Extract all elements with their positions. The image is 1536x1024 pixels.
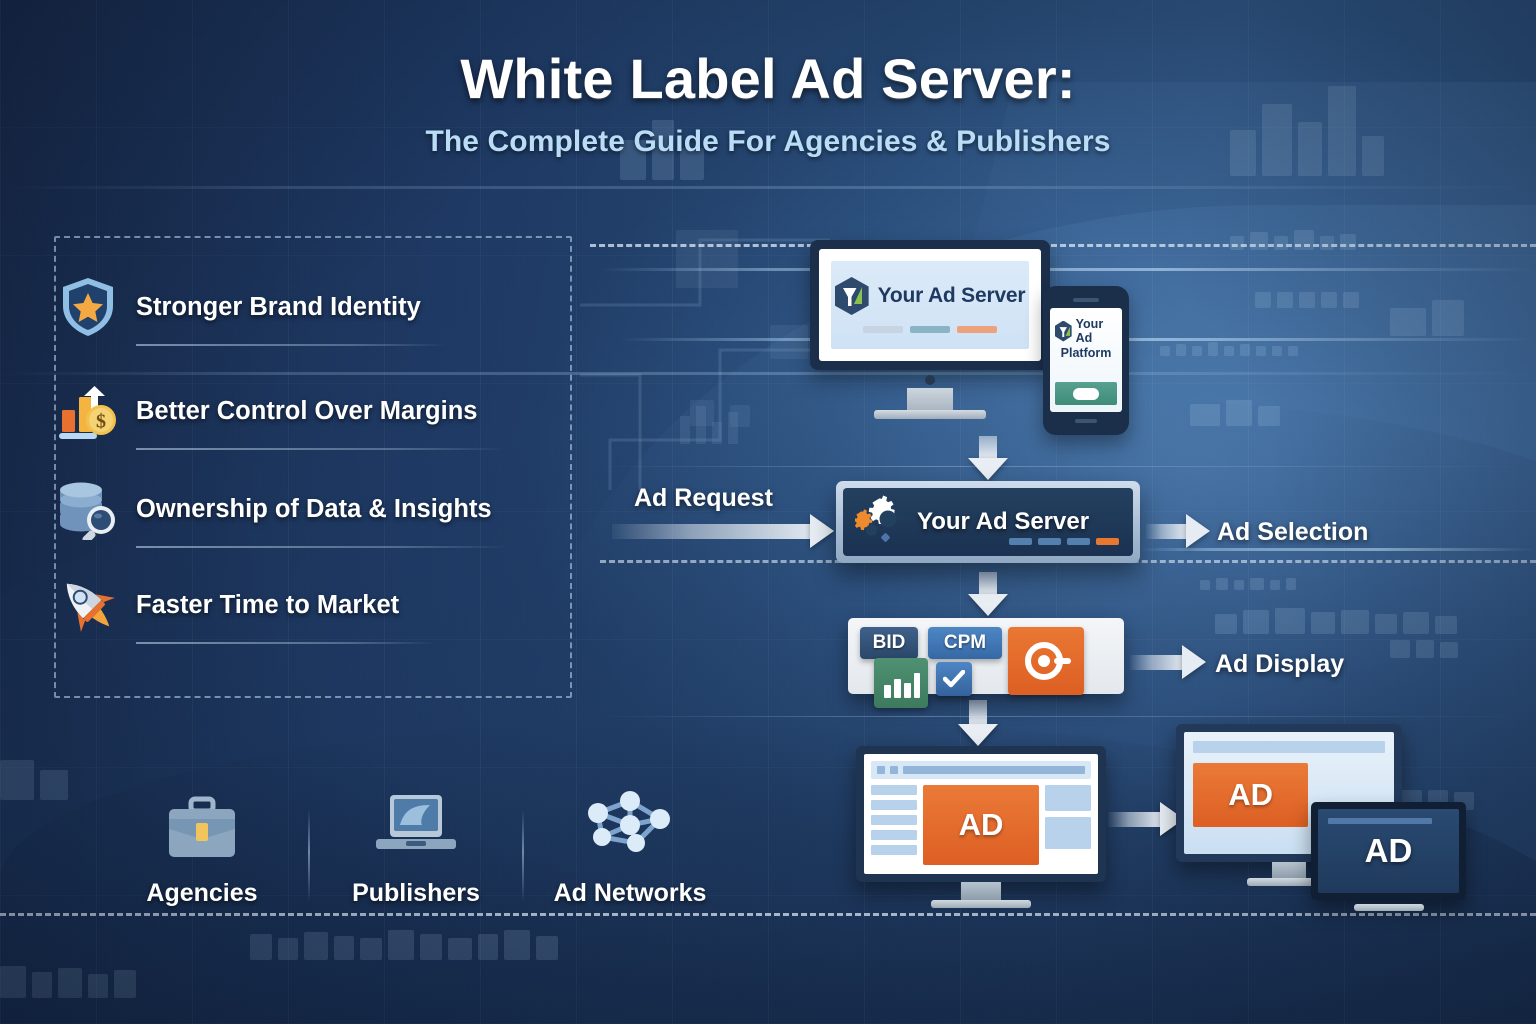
bid-tile[interactable]: BID [860,627,918,659]
ad-server-status-bars [1009,538,1119,545]
browser-dot-icon [890,766,898,774]
flow-arrow-ad-display [1130,645,1206,679]
tv-screen: AD [1318,809,1459,893]
ad-server-box-screen: Your Ad Server [843,488,1133,556]
check-icon [936,662,972,696]
header: White Label Ad Server: The Complete Guid… [0,46,1536,159]
flow-label-ad-display: Ad Display [1215,650,1344,679]
cpm-tile[interactable]: CPM [928,627,1002,659]
monitor-screen: AD [864,754,1098,874]
infographic-canvas: White Label Ad Server: The Complete Guid… [0,0,1536,1024]
flow-label-ad-selection: Ad Selection [1217,518,1368,547]
flow-arrow-devices-to-server [968,436,1008,480]
ad-slot-desktop[interactable]: AD [1193,763,1308,827]
publisher-webpage-mock: AD [864,754,1098,874]
ad-server-label: Your Ad Server [917,508,1089,536]
flow-arrow-ad-selection [1146,514,1210,548]
target-icon [1008,627,1084,695]
publisher-page-monitor: AD [856,746,1106,908]
tv-ad-screen: AD [1311,802,1466,911]
tv-frame: AD [1311,802,1466,900]
bid-cpm-panel[interactable]: BID CPM [848,618,1124,694]
gears-icon [855,493,909,552]
ad-slot-inline[interactable]: AD [923,785,1039,865]
page-header-skeleton [1193,741,1385,753]
flow-arrow-ad-request [612,514,834,548]
webpage-sidebar [871,785,917,865]
ad-slot-tv[interactable]: AD [1365,832,1413,870]
webpage-toolbar [871,761,1091,779]
ad-server-box[interactable]: Your Ad Server [836,481,1140,563]
monitor-neck [961,882,1001,900]
flow-arrow-server-to-bid [968,572,1008,616]
page-subtitle: The Complete Guide For Agencies & Publis… [0,125,1536,159]
bar-chart-icon [874,658,928,708]
ad-display-devices: AD AD [846,722,1466,912]
browser-dot-icon [877,766,885,774]
monitor-frame: AD [856,746,1106,882]
browser-url-bar [903,766,1085,774]
flow-label-ad-request: Ad Request [634,484,773,513]
webpage-body: AD [871,785,1091,865]
tv-base [1354,904,1424,911]
monitor-neck [1272,862,1306,878]
webpage-right-column [1045,785,1091,865]
page-title: White Label Ad Server: [0,46,1536,111]
monitor-base [931,900,1031,908]
tv-header-skeleton [1328,818,1432,824]
